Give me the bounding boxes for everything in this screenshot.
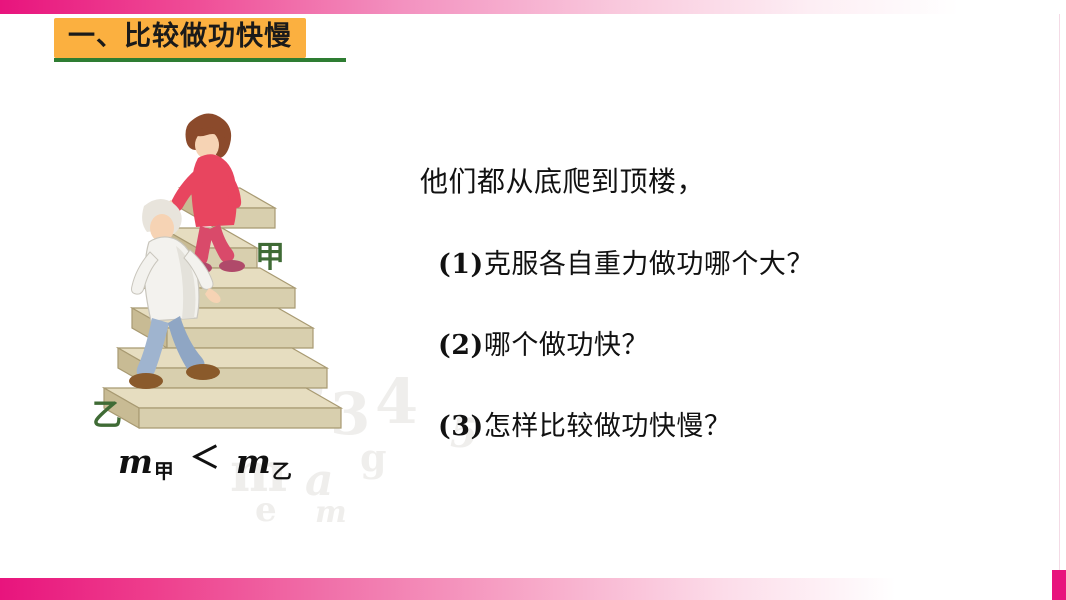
doodle-glyph: m: [315, 495, 347, 530]
formula-right-symbol: m: [236, 442, 271, 481]
mass-comparison-formula: m甲 ＜ m乙: [118, 437, 292, 481]
formula-relation: ＜: [190, 433, 220, 477]
bottom-right-accent: [1052, 570, 1066, 600]
question-number-1: (1): [438, 249, 484, 280]
formula-left-subscript: 甲: [154, 455, 174, 484]
question-number-3: (3): [438, 411, 484, 442]
question-item-2: (2)哪个做功快？: [438, 323, 1020, 362]
slide: 2 3 4 m a g e m b 5 一、比较做功快慢: [0, 0, 1066, 600]
right-edge-line: [1059, 14, 1060, 578]
question-item-3: (3)怎样比较做功快慢？: [438, 404, 1020, 443]
label-person-upper: 甲: [255, 232, 285, 276]
question-text-3: 怎样比较做功快慢？: [484, 411, 732, 442]
question-text-1: 克服各自重力做功哪个大？: [484, 249, 814, 280]
formula-right-subscript: 乙: [272, 455, 292, 484]
section-title-box: 一、比较做功快慢: [54, 18, 306, 58]
page-title: 一、比较做功快慢: [68, 21, 292, 52]
question-number-2: (2): [438, 330, 484, 361]
question-intro: 他们都从底爬到顶楼，: [420, 160, 1020, 200]
question-item-1: (1)克服各自重力做功哪个大？: [438, 242, 1020, 281]
bottom-decorative-bar: [0, 578, 1066, 600]
question-column: 他们都从底爬到顶楼， (1)克服各自重力做功哪个大？ (2)哪个做功快？ (3)…: [420, 160, 1020, 443]
title-underline: [54, 58, 346, 62]
question-text-2: 哪个做功快？: [484, 330, 649, 361]
formula-left-symbol: m: [118, 442, 153, 481]
label-person-lower: 乙: [92, 390, 122, 434]
top-decorative-bar: [0, 0, 1066, 14]
title-highlight: 一、比较做功快慢: [54, 18, 306, 58]
